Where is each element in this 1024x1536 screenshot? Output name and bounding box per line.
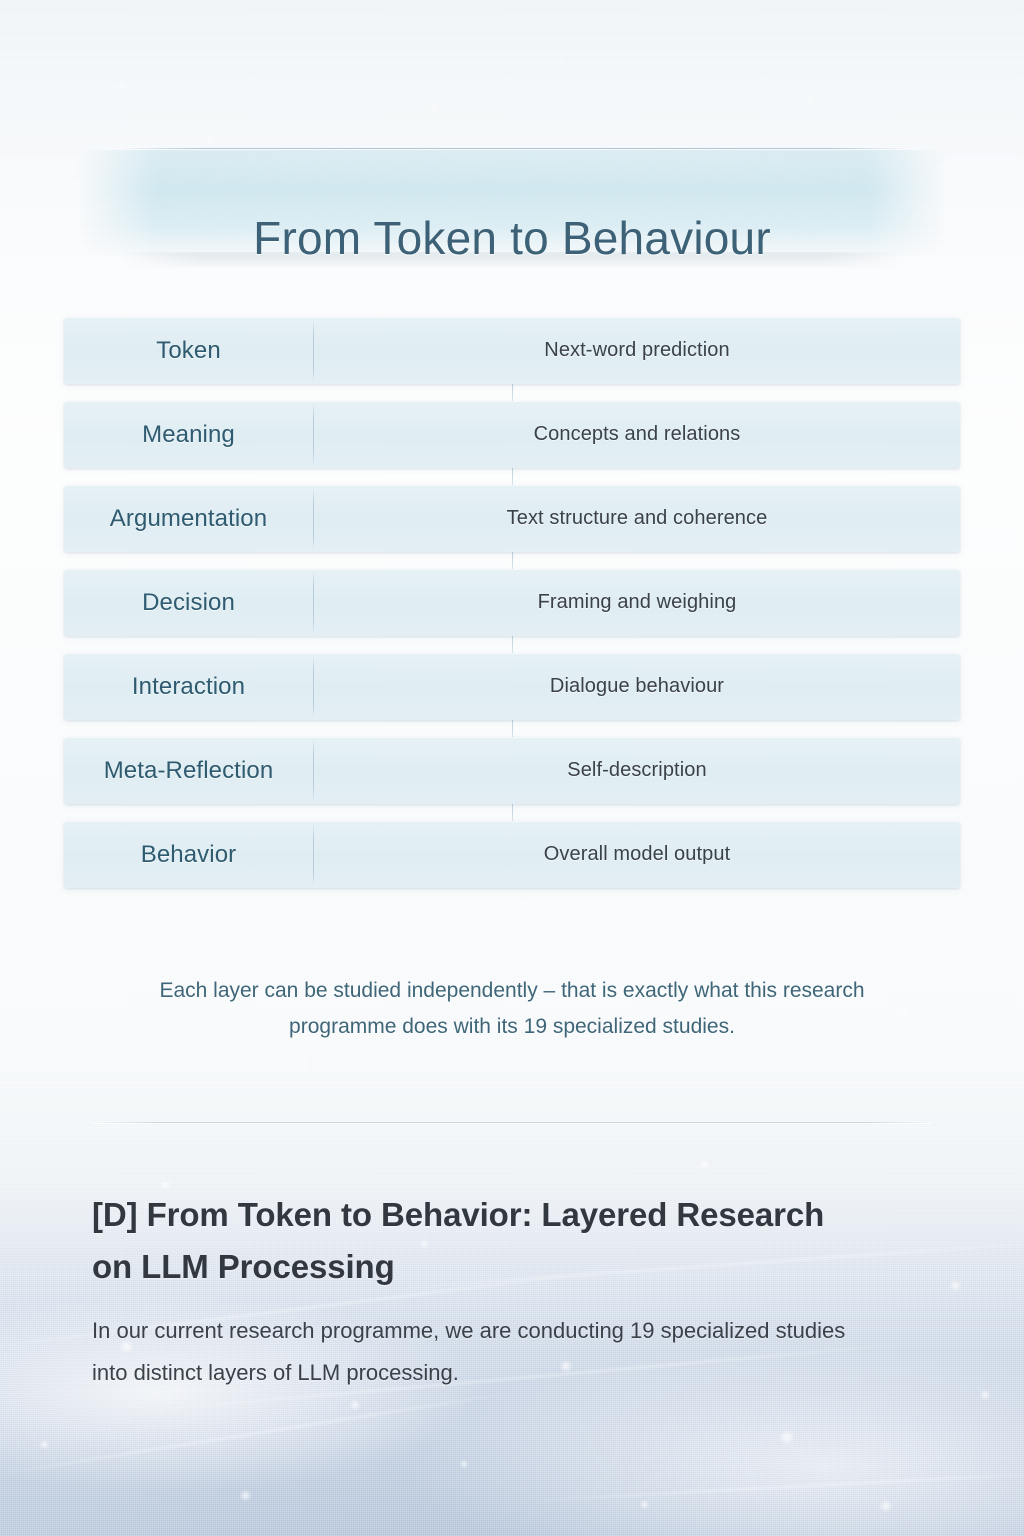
layer-description-cell: Dialogue behaviour xyxy=(314,653,960,720)
layer-description-cell: Text structure and coherence xyxy=(314,485,960,552)
layer-name-cell: Token xyxy=(64,317,313,384)
title-top-rule xyxy=(120,148,906,149)
table-row: DecisionFraming and weighing xyxy=(64,569,960,636)
page-title: From Token to Behaviour xyxy=(0,206,1024,270)
layer-description-cell: Framing and weighing xyxy=(314,569,960,636)
table-row: Meta-ReflectionSelf-description xyxy=(64,737,960,804)
background-ice-photo xyxy=(0,1060,1024,1536)
row-connector-line xyxy=(512,804,513,821)
section-divider xyxy=(92,1122,932,1123)
row-connector-line xyxy=(512,720,513,737)
layer-table: TokenNext-word predictionMeaningConcepts… xyxy=(64,317,960,888)
layer-description-cell: Next-word prediction xyxy=(314,317,960,384)
section-heading: [D] From Token to Behavior: Layered Rese… xyxy=(92,1189,852,1293)
row-connector-line xyxy=(512,384,513,401)
row-connector-line xyxy=(512,468,513,485)
row-connector-line xyxy=(512,636,513,653)
section-body-text: In our current research programme, we ar… xyxy=(92,1310,852,1394)
table-row: MeaningConcepts and relations xyxy=(64,401,960,468)
layer-name-cell: Decision xyxy=(64,569,313,636)
table-row: TokenNext-word prediction xyxy=(64,317,960,384)
table-row: ArgumentationText structure and coherenc… xyxy=(64,485,960,552)
row-connector-line xyxy=(512,552,513,569)
layer-name-cell: Behavior xyxy=(64,821,313,888)
layer-name-cell: Interaction xyxy=(64,653,313,720)
table-caption: Each layer can be studied independently … xyxy=(112,973,912,1045)
poster-page: From Token to Behaviour TokenNext-word p… xyxy=(0,0,1024,1536)
layer-description-cell: Overall model output xyxy=(314,821,960,888)
table-row: BehaviorOverall model output xyxy=(64,821,960,888)
layer-name-cell: Argumentation xyxy=(64,485,313,552)
layer-name-cell: Meta-Reflection xyxy=(64,737,313,804)
layer-description-cell: Concepts and relations xyxy=(314,401,960,468)
table-row: InteractionDialogue behaviour xyxy=(64,653,960,720)
layer-name-cell: Meaning xyxy=(64,401,313,468)
layer-description-cell: Self-description xyxy=(314,737,960,804)
